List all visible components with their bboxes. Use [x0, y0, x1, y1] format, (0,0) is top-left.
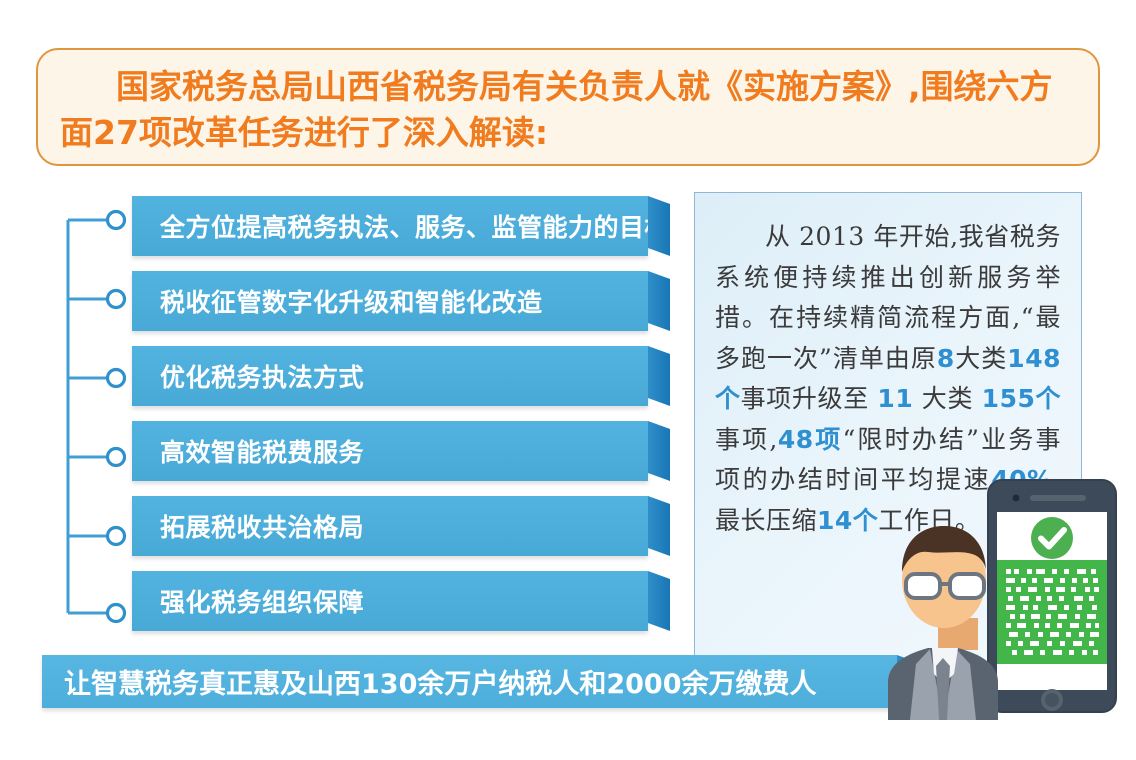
task-bar-body: 强化税务组织保障 [132, 571, 648, 631]
narrative-highlight: 155个 [982, 384, 1061, 413]
bottom-banner[interactable]: 让智慧税务真正惠及山西130余万户纳税人和2000余万缴费人 [42, 655, 897, 708]
task-bar-3d-side [648, 571, 670, 631]
illustration-man-with-phone [880, 468, 1130, 720]
narrative-highlight: 48项 [778, 425, 843, 454]
infographic-canvas: 国家税务总局山西省税务局有关负责人就《实施方案》,围绕六方面27项改革任务进行了… [0, 0, 1136, 760]
narrative-text: 大类 [913, 384, 981, 413]
task-bar-item[interactable]: 高效智能税费服务 [132, 421, 680, 481]
task-bar-3d-side [648, 196, 670, 256]
narrative-highlight: 8 [937, 344, 955, 373]
task-bar-3d-side [648, 496, 670, 556]
bottom-banner-label: 让智慧税务真正惠及山西130余万户纳税人和2000余万缴费人 [42, 662, 817, 701]
task-bar-item[interactable]: 全方位提高税务执法、服务、监管能力的目标 [132, 196, 680, 256]
task-bar-item[interactable]: 优化税务执法方式 [132, 346, 680, 406]
header-box: 国家税务总局山西省税务局有关负责人就《实施方案》,围绕六方面27项改革任务进行了… [36, 48, 1100, 166]
narrative-text: 大类 [955, 344, 1008, 373]
task-bar-body: 税收征管数字化升级和智能化改造 [132, 271, 648, 331]
task-bar-label: 税收征管数字化升级和智能化改造 [132, 283, 543, 319]
task-bar-item[interactable]: 拓展税收共治格局 [132, 496, 680, 556]
task-bar-label: 全方位提高税务执法、服务、监管能力的目标 [132, 208, 670, 244]
task-bar-body: 优化税务执法方式 [132, 346, 648, 406]
smartphone-icon [988, 480, 1116, 712]
narrative-text: 事项升级至 [741, 384, 878, 413]
narrative-text: 事项, [715, 425, 778, 454]
narrative-highlight: 11 [877, 384, 913, 413]
task-bar-label: 强化税务组织保障 [132, 583, 364, 619]
task-bar-3d-side [648, 346, 670, 406]
task-bar-item[interactable]: 强化税务组织保障 [132, 571, 680, 631]
task-bar-label: 拓展税收共治格局 [132, 508, 364, 544]
task-bar-3d-side [648, 271, 670, 331]
task-bar-body: 拓展税收共治格局 [132, 496, 648, 556]
task-bar-label: 高效智能税费服务 [132, 433, 364, 469]
task-bar-label: 优化税务执法方式 [132, 358, 364, 394]
person-avatar-icon [888, 526, 998, 720]
task-bar-body: 全方位提高税务执法、服务、监管能力的目标 [132, 196, 648, 256]
narrative-highlight: 14个 [817, 506, 878, 535]
task-bar-3d-side [648, 421, 670, 481]
task-bar-item[interactable]: 税收征管数字化升级和智能化改造 [132, 271, 680, 331]
task-bar-body: 高效智能税费服务 [132, 421, 648, 481]
task-bar-list: 全方位提高税务执法、服务、监管能力的目标 税收征管数字化升级和智能化改造 优化税… [132, 196, 680, 640]
header-title: 国家税务总局山西省税务局有关负责人就《实施方案》,围绕六方面27项改革任务进行了… [60, 64, 1076, 155]
